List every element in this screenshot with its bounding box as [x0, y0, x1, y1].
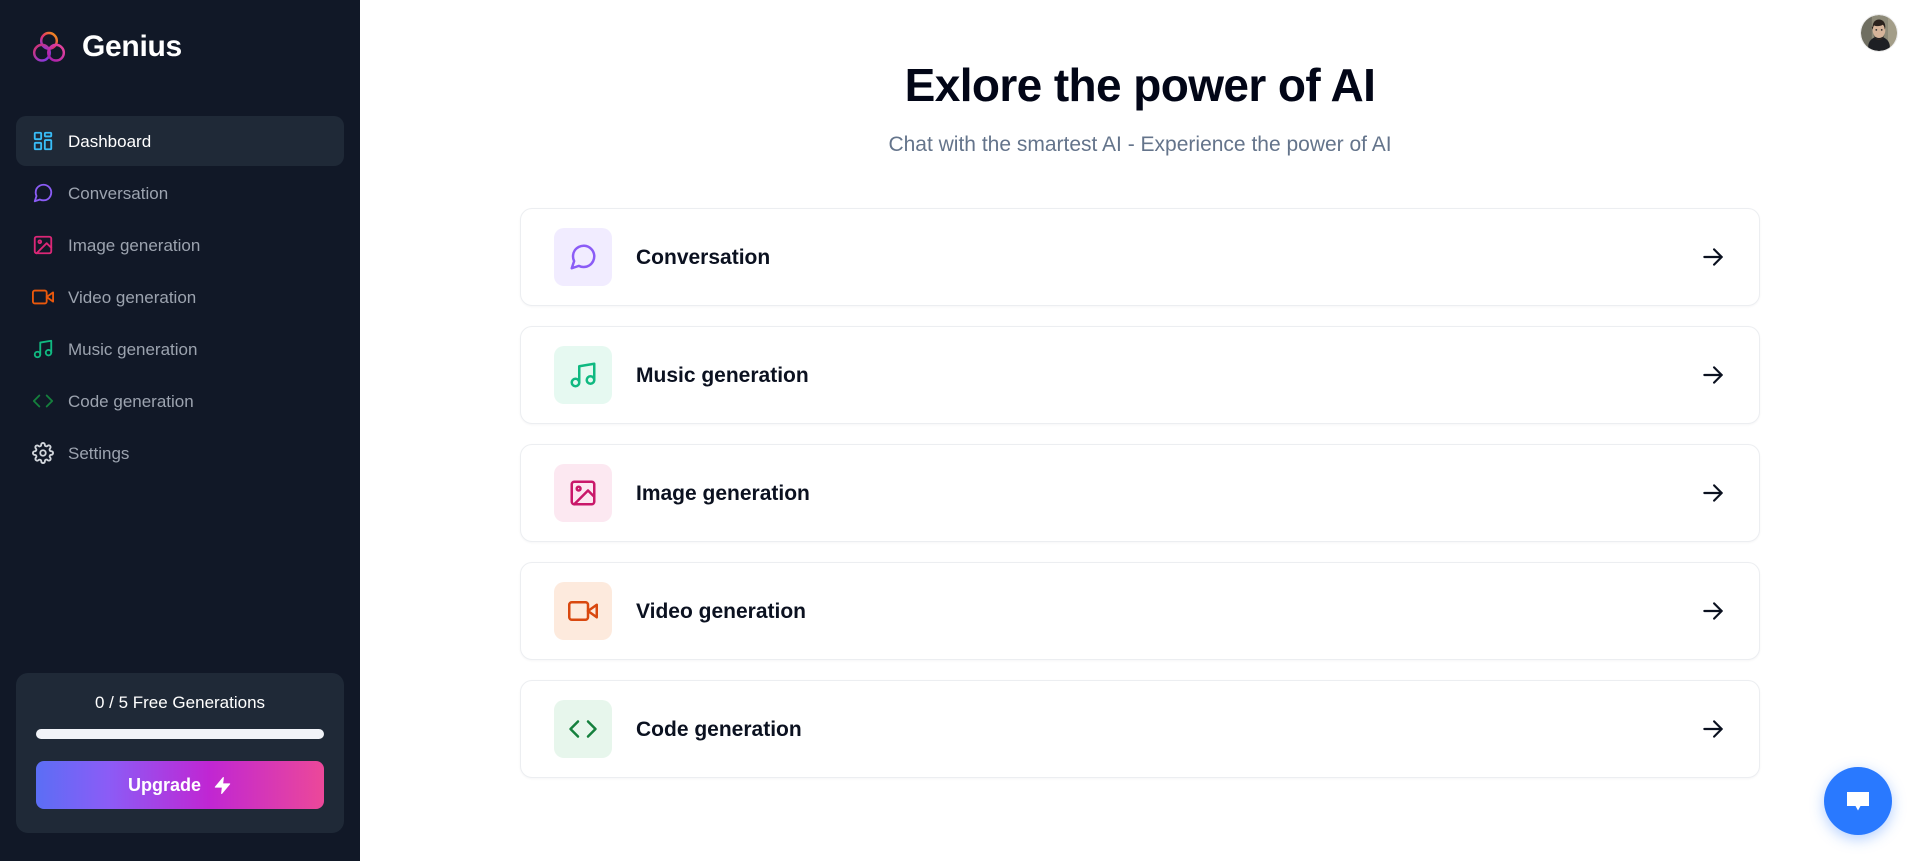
- avatar[interactable]: [1860, 14, 1898, 52]
- tool-list: Conversation Music generation: [520, 208, 1760, 778]
- free-generations-counter: 0 / 5 Free Generations: [36, 693, 324, 713]
- sidebar-spacer: [16, 478, 344, 673]
- gear-icon: [32, 442, 54, 464]
- genius-trefoil-logo-icon: [30, 28, 68, 66]
- sidebar-item-label: Dashboard: [68, 133, 151, 150]
- sidebar-item-conversation[interactable]: Conversation: [16, 168, 344, 218]
- sidebar-item-music-generation[interactable]: Music generation: [16, 324, 344, 374]
- arrow-right-icon[interactable]: [1700, 362, 1726, 388]
- image-icon: [554, 464, 612, 522]
- tool-card-music-generation[interactable]: Music generation: [520, 326, 1760, 424]
- zap-icon: [213, 776, 232, 795]
- image-icon: [32, 234, 54, 256]
- arrow-right-icon[interactable]: [1700, 244, 1726, 270]
- music-icon: [554, 346, 612, 404]
- tool-card-label: Music generation: [636, 365, 1700, 386]
- arrow-right-icon[interactable]: [1700, 480, 1726, 506]
- upgrade-button-label: Upgrade: [128, 775, 201, 796]
- brand-name: Genius: [82, 32, 182, 62]
- sidebar-item-label: Video generation: [68, 289, 196, 306]
- video-icon: [32, 286, 54, 308]
- sidebar-item-video-generation[interactable]: Video generation: [16, 272, 344, 322]
- main-content: Exlore the power of AI Chat with the sma…: [360, 0, 1920, 861]
- sidebar-item-settings[interactable]: Settings: [16, 428, 344, 478]
- free-generations-card: 0 / 5 Free Generations Upgrade: [16, 673, 344, 833]
- tool-card-conversation[interactable]: Conversation: [520, 208, 1760, 306]
- free-generations-progress: [36, 729, 324, 739]
- video-icon: [554, 582, 612, 640]
- chat-bubble-icon: [1842, 785, 1874, 817]
- sidebar-nav: Dashboard Conversation Image generation: [16, 116, 344, 478]
- message-square-icon: [554, 228, 612, 286]
- arrow-right-icon[interactable]: [1700, 716, 1726, 742]
- sidebar-item-label: Conversation: [68, 185, 168, 202]
- message-square-icon: [32, 182, 54, 204]
- sidebar-item-dashboard[interactable]: Dashboard: [16, 116, 344, 166]
- tool-card-video-generation[interactable]: Video generation: [520, 562, 1760, 660]
- page-subtitle: Chat with the smartest AI - Experience t…: [360, 131, 1920, 158]
- sidebar-item-code-generation[interactable]: Code generation: [16, 376, 344, 426]
- sidebar-item-label: Settings: [68, 445, 129, 462]
- tool-card-label: Image generation: [636, 483, 1700, 504]
- sidebar-item-label: Image generation: [68, 237, 200, 254]
- tool-card-label: Conversation: [636, 247, 1700, 268]
- code-icon: [554, 700, 612, 758]
- code-icon: [32, 390, 54, 412]
- user-avatar-icon: [1861, 15, 1897, 51]
- tool-card-label: Code generation: [636, 719, 1700, 740]
- chat-widget-button[interactable]: [1824, 767, 1892, 835]
- layout-dashboard-icon: [32, 130, 54, 152]
- sidebar: Genius Dashboard Conversation: [0, 0, 360, 861]
- brand-logo-link[interactable]: Genius: [16, 16, 344, 78]
- sidebar-item-label: Music generation: [68, 341, 197, 358]
- page-header: Exlore the power of AI Chat with the sma…: [360, 0, 1920, 158]
- sidebar-item-label: Code generation: [68, 393, 194, 410]
- tool-card-label: Video generation: [636, 601, 1700, 622]
- tool-card-image-generation[interactable]: Image generation: [520, 444, 1760, 542]
- sidebar-item-image-generation[interactable]: Image generation: [16, 220, 344, 270]
- music-icon: [32, 338, 54, 360]
- arrow-right-icon[interactable]: [1700, 598, 1726, 624]
- tool-card-code-generation[interactable]: Code generation: [520, 680, 1760, 778]
- upgrade-button[interactable]: Upgrade: [36, 761, 324, 809]
- page-title: Exlore the power of AI: [360, 58, 1920, 113]
